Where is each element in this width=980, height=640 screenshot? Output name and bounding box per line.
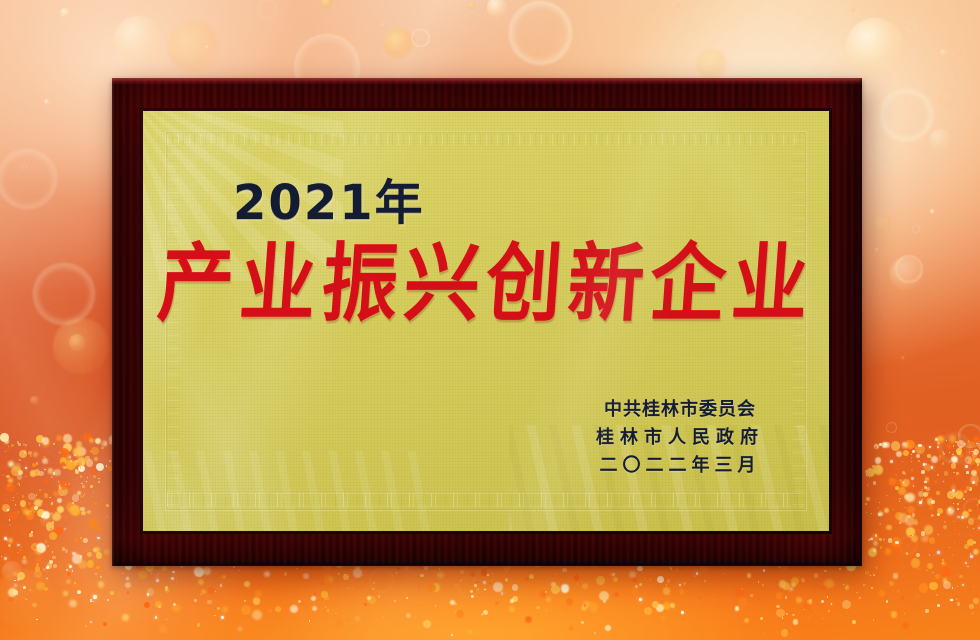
scene-backdrop: 2021年 产业振兴创新企业 中共桂林市委员会 桂林市人民政府 二〇二二年三月: [0, 0, 980, 640]
signature-line-date: 二〇二二年三月: [596, 452, 764, 480]
ornament-meander-band-bottom: [167, 493, 805, 507]
ornament-diamond-band-top: [167, 134, 805, 145]
certificate-signature: 中共桂林市委员会 桂林市人民政府 二〇二二年三月: [596, 396, 764, 480]
signature-line-issuer-government: 桂林市人民政府: [596, 424, 764, 452]
award-plaque: 2021年 产业振兴创新企业 中共桂林市委员会 桂林市人民政府 二〇二二年三月: [112, 78, 862, 566]
certificate-year: 2021年: [233, 163, 425, 233]
signature-line-issuer-party: 中共桂林市委员会: [596, 396, 764, 424]
certificate-panel: 2021年 产业振兴创新企业 中共桂林市委员会 桂林市人民政府 二〇二二年三月: [143, 111, 829, 531]
certificate-headline: 产业振兴创新企业: [143, 241, 829, 326]
